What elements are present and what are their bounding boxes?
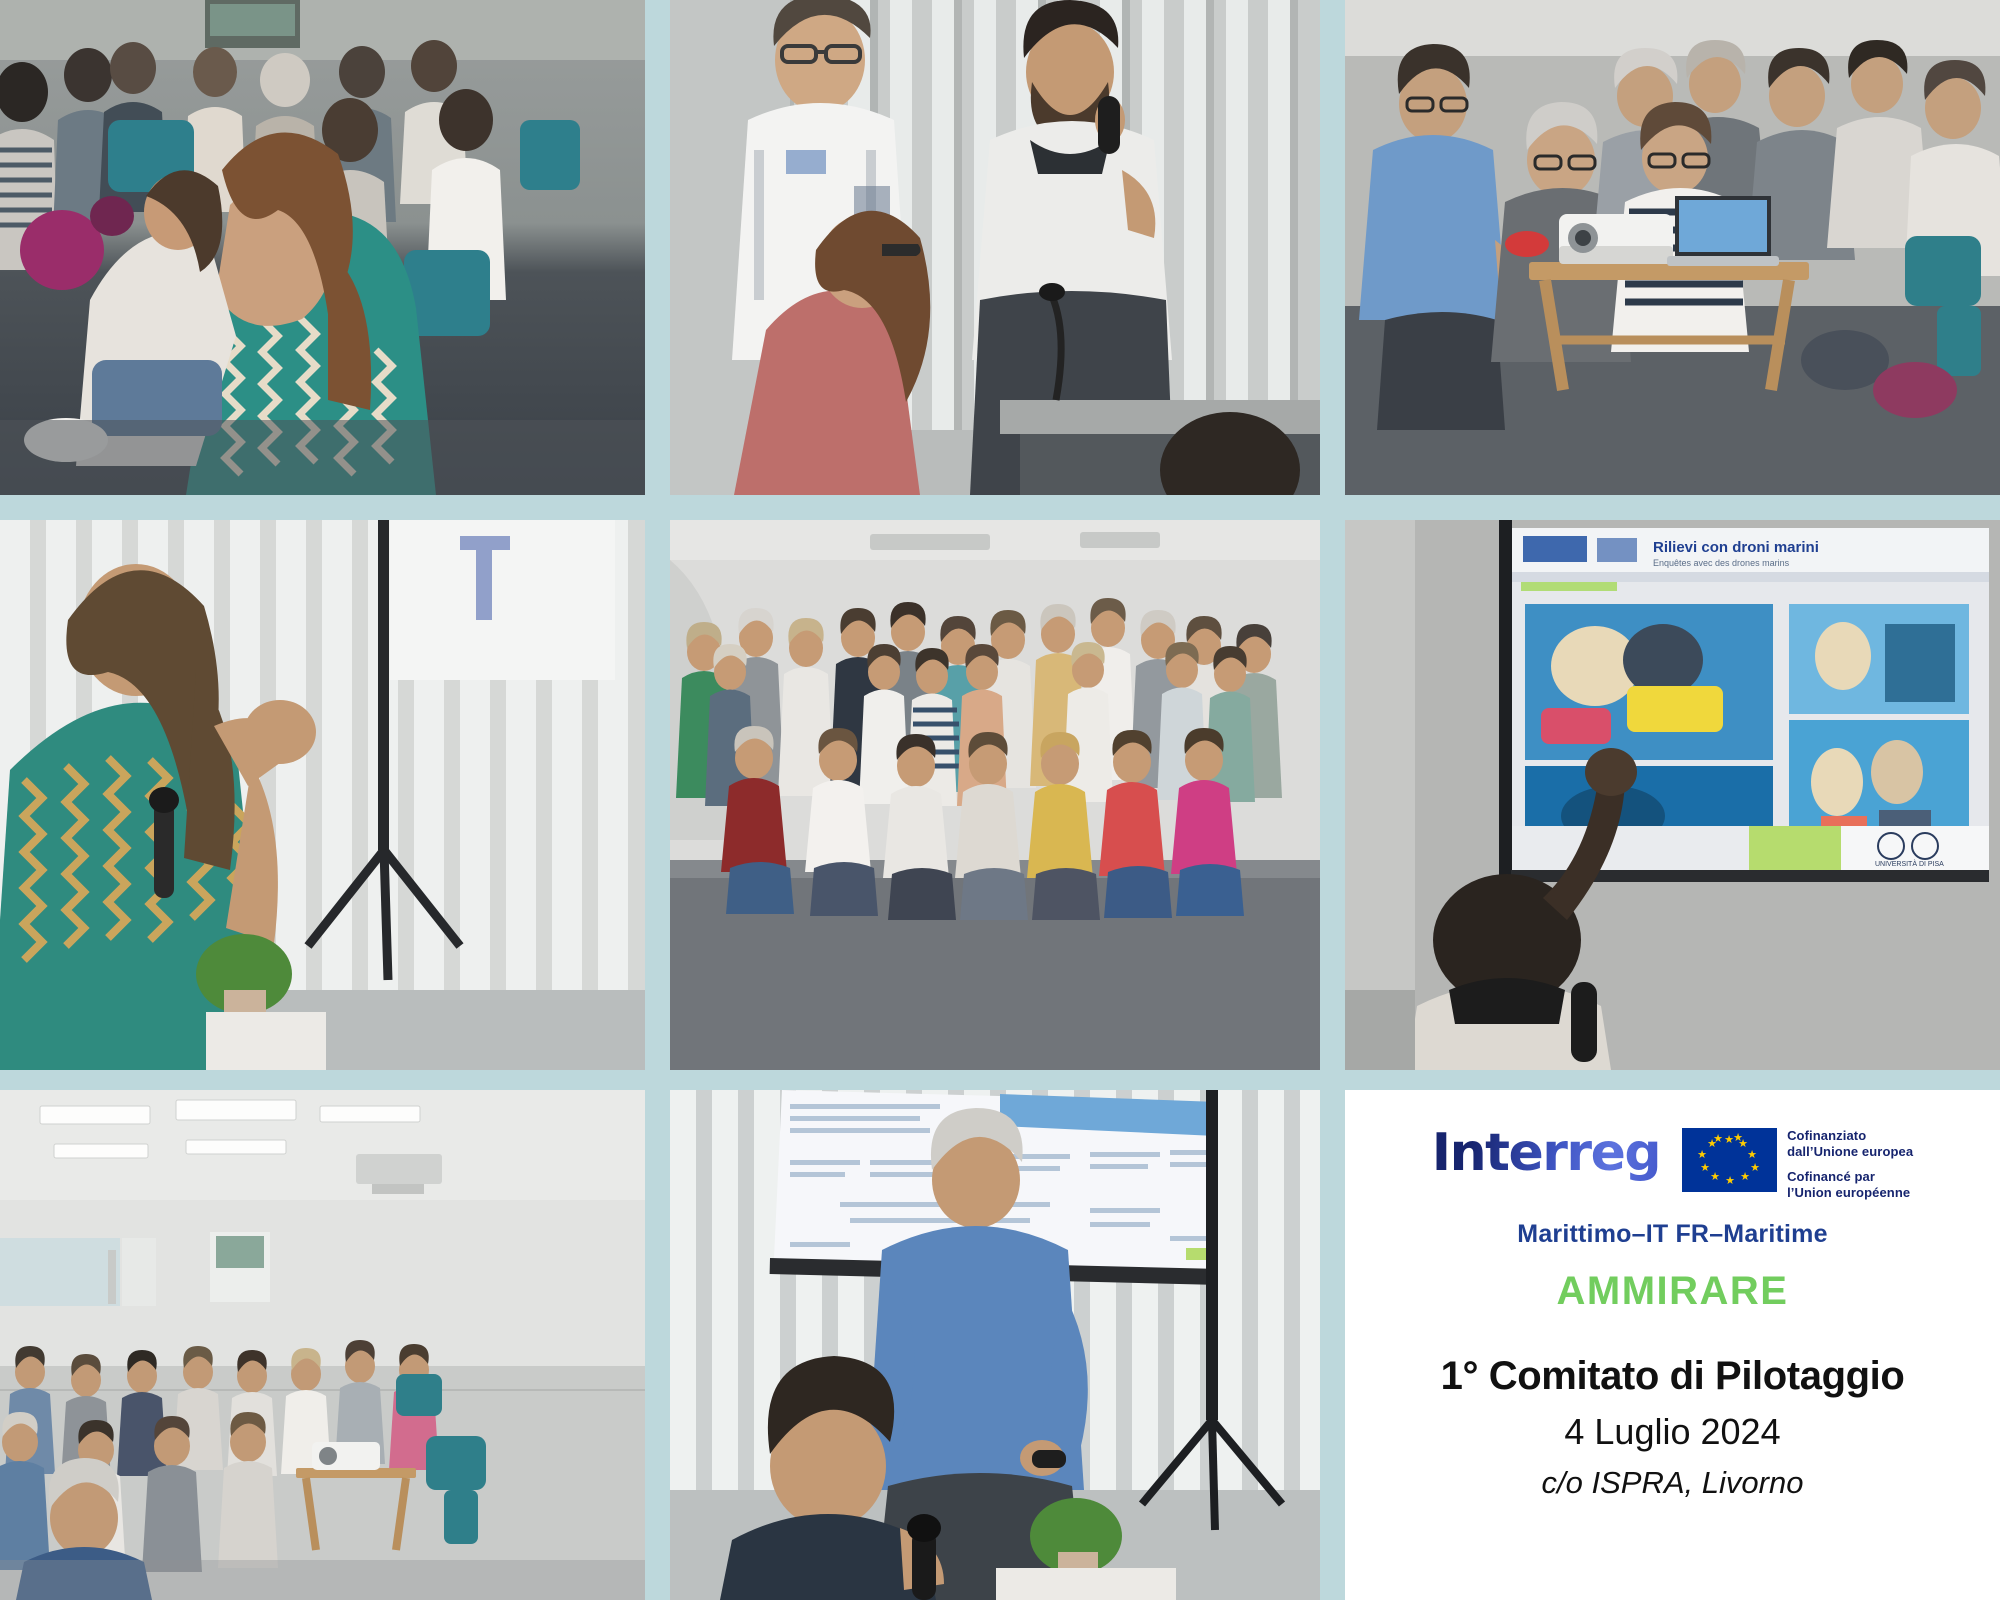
interreg-wordmark: Interreg <box>1432 1124 1660 1182</box>
svg-text:UNIVERSITÀ DI PISA: UNIVERSITÀ DI PISA <box>1875 859 1944 868</box>
eu-flag-icon: ★ ★ ★ ★ ★ ★ ★ ★ ★ ★ ★ ★ <box>1682 1128 1777 1192</box>
photo-image <box>1345 0 2000 495</box>
eu-caption-it-1: Cofinanziato <box>1787 1128 1866 1143</box>
info-panel: Interreg ★ ★ ★ ★ ★ ★ ★ ★ ★ ★ ★ ★ Co <box>1345 1090 2000 1600</box>
photo-collage: Rilievi con droni marini Enquêtes avec d… <box>0 0 2000 1600</box>
event-date: 4 Luglio 2024 <box>1564 1411 1780 1453</box>
logo-row: Interreg ★ ★ ★ ★ ★ ★ ★ ★ ★ ★ ★ ★ Co <box>1432 1124 1913 1194</box>
slide-subtitle-text: Enquêtes avec des drones marins <box>1653 558 1790 568</box>
project-name: AMMIRARE <box>1557 1269 1789 1314</box>
eu-caption-fr-2: l’Union européenne <box>1787 1185 1910 1200</box>
photo-image <box>670 0 1320 495</box>
photo-woman-presenting <box>0 520 645 1070</box>
photo-image <box>0 1090 645 1600</box>
photo-group-portrait <box>670 520 1320 1070</box>
event-title: 1° Comitato di Pilotaggio <box>1441 1354 1905 1399</box>
eu-cofunding-caption: Cofinanziato dall’Unione europea Cofinan… <box>1787 1128 1913 1201</box>
eu-caption-it-2: dall’Unione europea <box>1787 1144 1913 1159</box>
eu-cofunding-block: ★ ★ ★ ★ ★ ★ ★ ★ ★ ★ ★ ★ Cofinanziato dal… <box>1682 1124 1913 1201</box>
photo-image <box>670 1090 1320 1600</box>
photo-image <box>670 520 1320 1070</box>
photo-audience-left <box>0 0 645 495</box>
photo-speaker-microphone <box>670 0 1320 495</box>
event-place: c/o ISPRA, Livorno <box>1542 1465 1804 1501</box>
photo-projector-table <box>1345 0 2000 495</box>
photo-room-wide <box>0 1090 645 1600</box>
photo-image: Rilievi con droni marini Enquêtes avec d… <box>1345 520 2000 1070</box>
photo-image <box>0 0 645 495</box>
photo-image <box>0 520 645 1070</box>
eu-caption-fr-1: Cofinancé par <box>1787 1169 1875 1184</box>
photo-presenter-slide <box>670 1090 1320 1600</box>
slide-title-text: Rilievi con droni marini <box>1653 539 1819 556</box>
photo-slide-drones: Rilievi con droni marini Enquêtes avec d… <box>1345 520 2000 1070</box>
programme-name: Marittimo–IT FR–Maritime <box>1517 1220 1827 1249</box>
